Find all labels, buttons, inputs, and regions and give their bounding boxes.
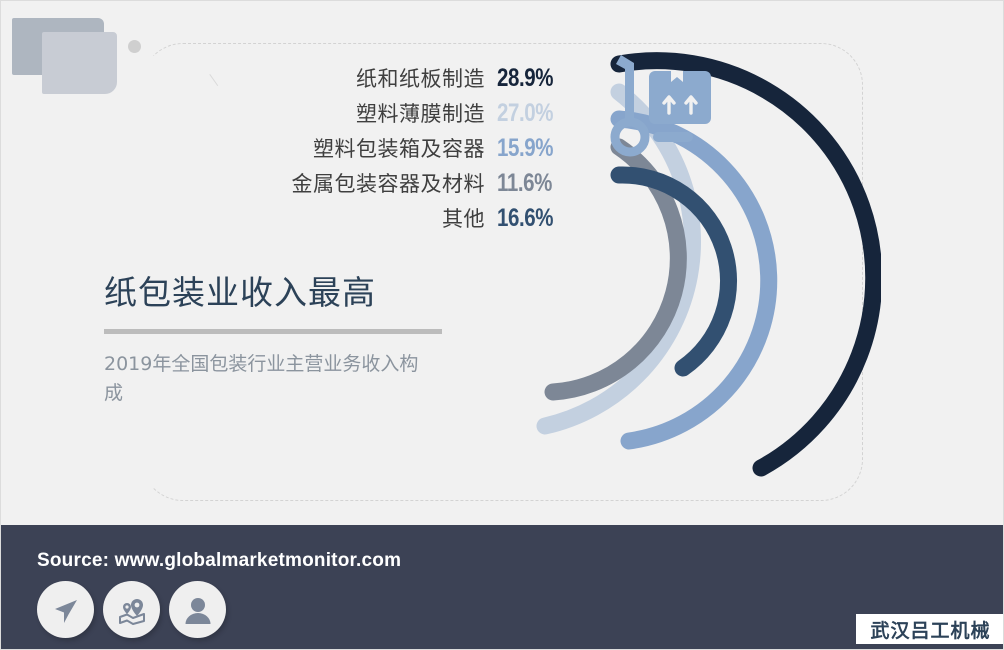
user-button[interactable] bbox=[169, 581, 226, 638]
watermark-box: 武汉吕工机械 bbox=[856, 614, 1004, 644]
source-text: Source: www.globalmarketmonitor.com bbox=[37, 550, 401, 572]
map-pin-button[interactable] bbox=[103, 581, 160, 638]
user-icon bbox=[182, 594, 214, 626]
title-divider bbox=[104, 329, 442, 334]
headline-block: 纸包装业收入最高 2019年全国包装行业主营业务收入构成 bbox=[104, 273, 524, 408]
infographic-canvas: 纸和纸板制造 28.9% 塑料薄膜制造 27.0% 塑料包装箱及容器 15.9%… bbox=[0, 0, 1004, 650]
radial-arc-chart bbox=[501, 41, 881, 511]
decorative-dot bbox=[128, 40, 141, 53]
watermark-text: 武汉吕工机械 bbox=[870, 616, 990, 643]
legend-label: 纸和纸板制造 bbox=[356, 63, 485, 93]
legend-label: 塑料包装箱及容器 bbox=[313, 133, 485, 163]
decorative-card-front bbox=[42, 32, 117, 94]
legend-label: 其他 bbox=[442, 203, 485, 233]
map-pin-icon bbox=[116, 594, 148, 626]
navigation-arrow-button[interactable] bbox=[37, 581, 94, 638]
dashed-panel-left-gap bbox=[139, 56, 145, 488]
footer-icon-group bbox=[37, 581, 226, 638]
page-subtitle: 2019年全国包装行业主营业务收入构成 bbox=[104, 350, 424, 409]
page-title: 纸包装业收入最高 bbox=[104, 273, 524, 313]
navigation-arrow-icon bbox=[50, 594, 82, 626]
legend-label: 塑料薄膜制造 bbox=[356, 98, 485, 128]
legend-label: 金属包装容器及材料 bbox=[292, 168, 486, 198]
